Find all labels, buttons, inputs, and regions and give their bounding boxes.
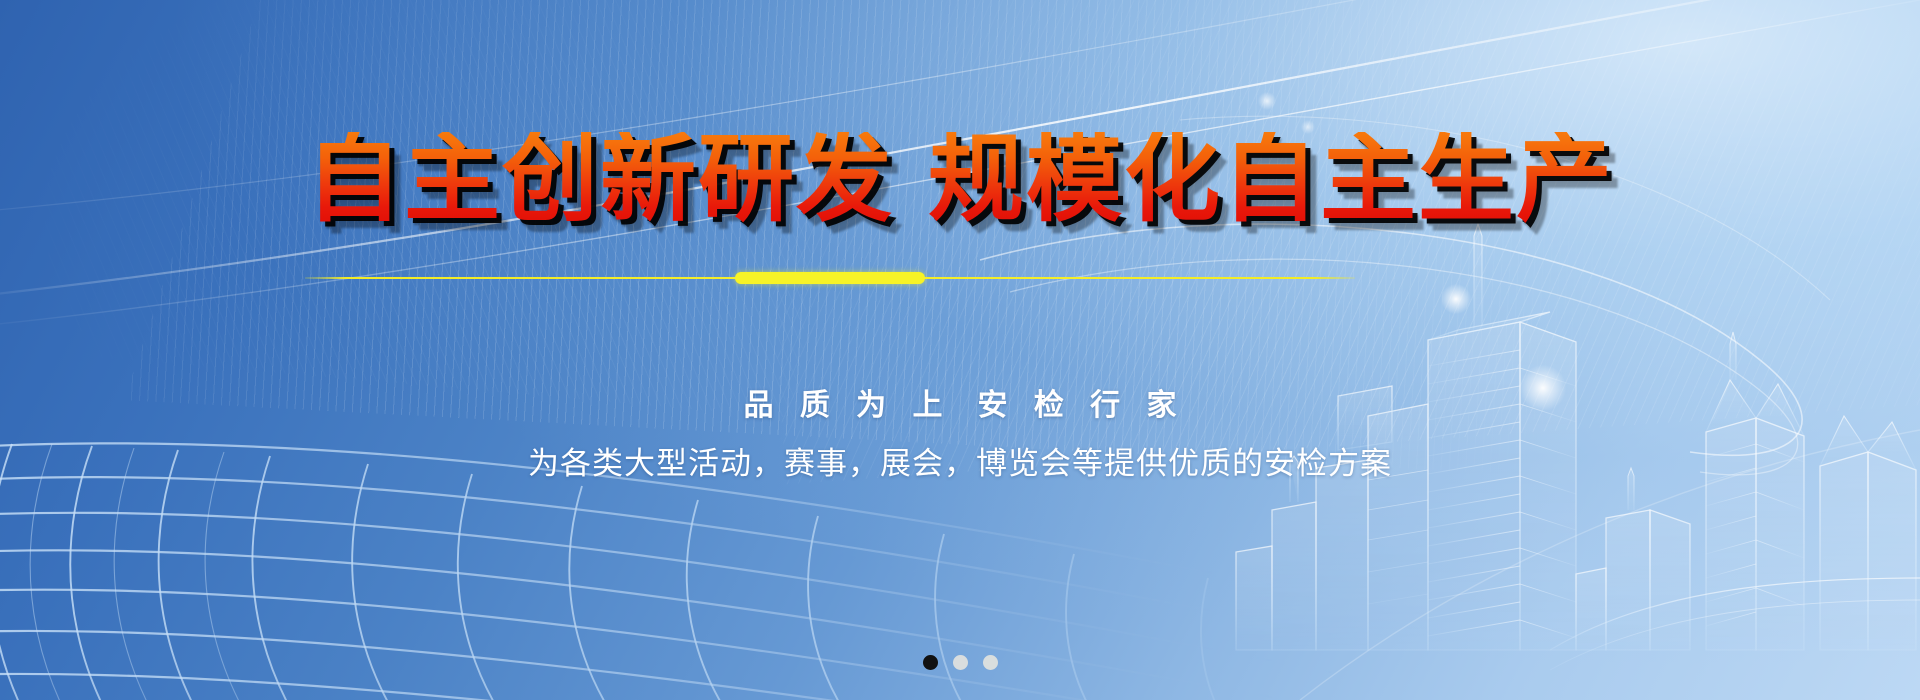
banner-subtitle-secondary: 为各类大型活动，赛事，展会，博览会等提供优质的安检方案 <box>0 438 1920 483</box>
carousel-pagination[interactable] <box>0 655 1920 670</box>
banner-content: 自主创新研发规模化自主生产 品 质 为 上安 检 行 家 为各类大型活动，赛事，… <box>0 0 1920 700</box>
carousel-dot-3[interactable] <box>983 655 998 670</box>
banner-headline: 自主创新研发规模化自主生产 <box>0 132 1920 228</box>
headline-segment-2: 规模化自主生产 <box>928 126 1614 233</box>
hero-banner-slide: 自主创新研发规模化自主生产 品 质 为 上安 检 行 家 为各类大型活动，赛事，… <box>0 0 1920 700</box>
carousel-dot-1[interactable] <box>923 655 938 670</box>
yellow-divider <box>305 272 1355 284</box>
banner-subtitle-primary: 品 质 为 上安 检 行 家 <box>0 380 1920 424</box>
headline-segment-1: 自主创新研发 <box>306 126 894 233</box>
divider-center-bar <box>735 272 925 284</box>
subtitle-primary-b: 安 检 行 家 <box>978 389 1186 422</box>
subtitle-primary-a: 品 质 为 上 <box>743 389 951 422</box>
carousel-dot-2[interactable] <box>953 655 968 670</box>
